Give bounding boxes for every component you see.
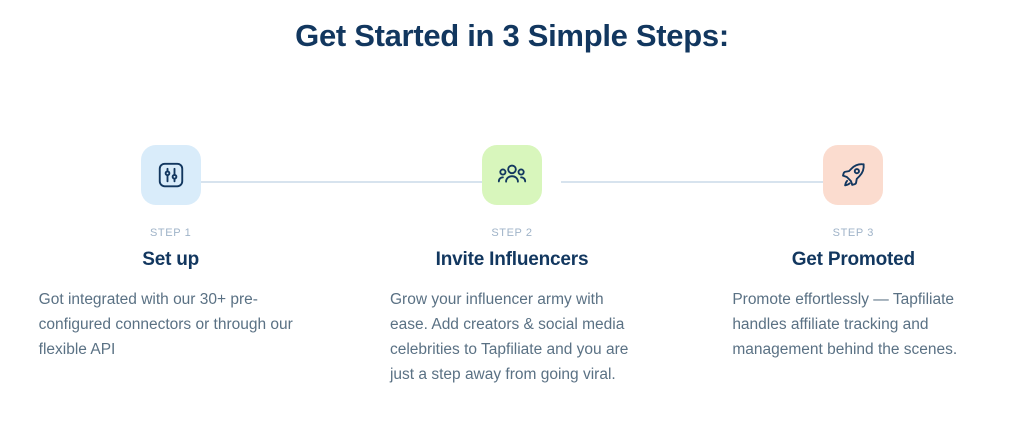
rocket-icon (838, 160, 868, 190)
step-item-1: STEP 1 Set up Got integrated with our 30… (0, 145, 341, 362)
step-item-3: STEP 3 Get Promoted Promote effortlessly… (683, 145, 1024, 362)
step-title-1: Set up (142, 249, 199, 271)
step-icon-tile-3 (823, 145, 883, 205)
get-started-section: Get Started in 3 Simple Steps: S (0, 0, 1024, 436)
step-number-label-3: STEP 3 (833, 227, 874, 239)
step-number-label-1: STEP 1 (150, 227, 191, 239)
step-icon-tile-1 (141, 145, 201, 205)
step-description-2: Grow your influencer army with ease. Add… (390, 287, 638, 387)
steps-list: STEP 1 Set up Got integrated with our 30… (0, 145, 1024, 387)
step-number-label-2: STEP 2 (491, 227, 532, 239)
step-title-3: Get Promoted (792, 249, 915, 271)
step-item-2: STEP 2 Invite Influencers Grow your infl… (341, 145, 682, 387)
step-title-2: Invite Influencers (436, 249, 589, 271)
step-icon-tile-2 (482, 145, 542, 205)
step-description-3: Promote effortlessly — Tapfiliate handle… (732, 287, 980, 362)
page-title: Get Started in 3 Simple Steps: (0, 18, 1024, 54)
people-group-icon (496, 159, 528, 191)
sliders-icon (156, 160, 186, 190)
step-description-1: Got integrated with our 30+ pre-configur… (39, 287, 311, 362)
